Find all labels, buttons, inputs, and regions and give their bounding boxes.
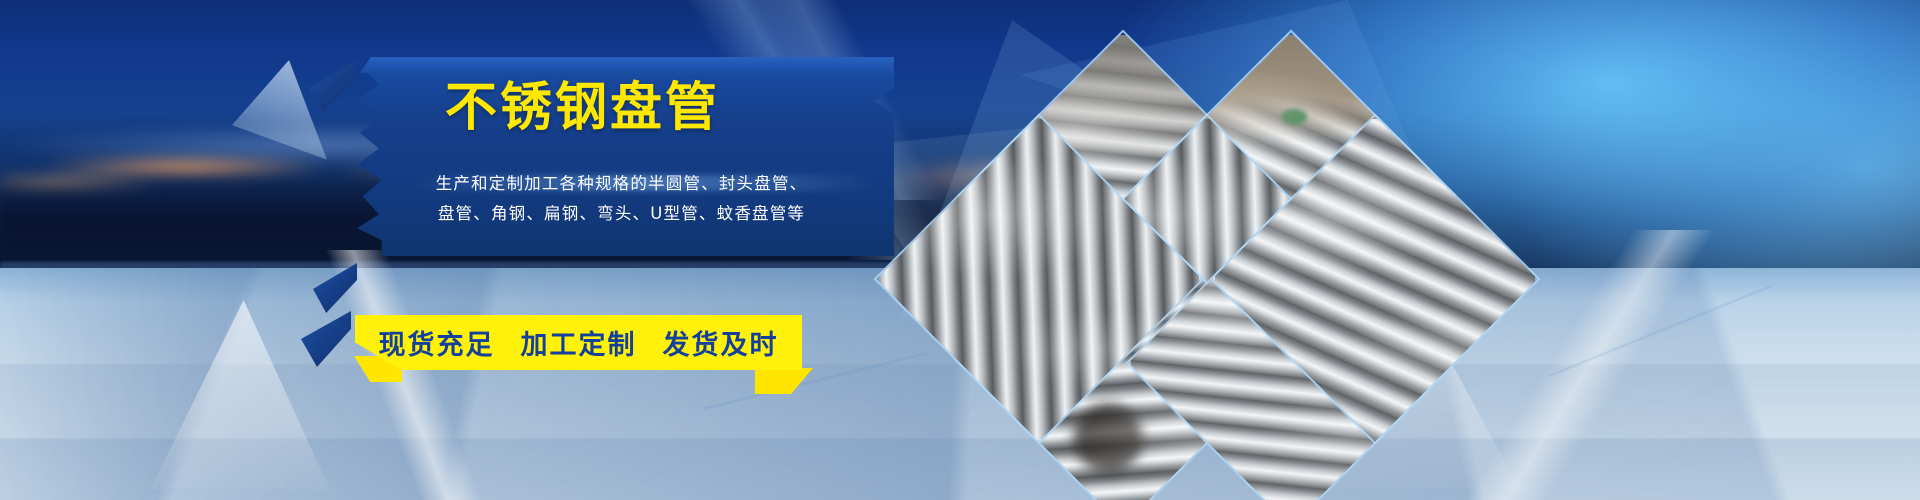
- page-title: 不锈钢盘管: [445, 79, 720, 137]
- headline-panel-fold: [349, 57, 894, 73]
- ribbon-item-1: 加工定制: [521, 323, 637, 362]
- ribbon-text-group: 现货充足 加工定制 发货及时: [355, 315, 802, 370]
- feature-ribbon: 现货充足 加工定制 发货及时: [355, 315, 802, 370]
- ribbon-item-2: 发货及时: [663, 323, 779, 362]
- headline-panel: 不锈钢盘管 生产和定制加工各种规格的半圆管、封头盘管、 盘管、角钢、扁钢、弯头、…: [349, 57, 894, 256]
- subtitle-line-2: 盘管、角钢、扁钢、弯头、U型管、蚊香盘管等: [349, 200, 894, 224]
- product-photo-mosaic: [840, 0, 1540, 500]
- ribbon-item-0: 现货充足: [379, 323, 495, 362]
- promotional-banner: 不锈钢盘管 生产和定制加工各种规格的半圆管、封头盘管、 盘管、角钢、扁钢、弯头、…: [0, 0, 1920, 500]
- subtitle-line-1: 生产和定制加工各种规格的半圆管、封头盘管、: [349, 170, 894, 194]
